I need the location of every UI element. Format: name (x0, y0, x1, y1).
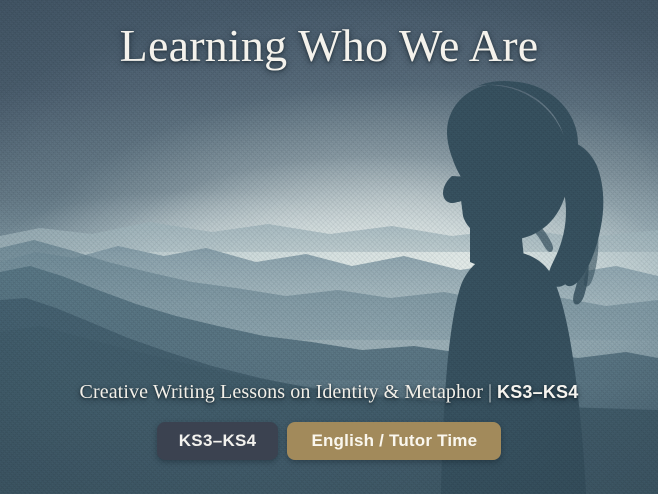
badge-row: KS3–KS4 English / Tutor Time (0, 422, 658, 460)
subtitle-main-text: Creative Writing Lessons on Identity & M… (80, 381, 483, 403)
poster-title: Learning Who We Are (0, 19, 658, 73)
subtitle-separator: | (483, 381, 497, 403)
poster-slide: Learning Who We Are Creative Writing Les… (0, 0, 658, 494)
badge-subject[interactable]: English / Tutor Time (287, 422, 501, 460)
badge-key-stage[interactable]: KS3–KS4 (157, 422, 279, 460)
poster-content: Learning Who We Are Creative Writing Les… (0, 0, 658, 494)
poster-subtitle: Creative Writing Lessons on Identity & M… (0, 381, 658, 404)
subtitle-key-stage: KS3–KS4 (497, 382, 578, 402)
